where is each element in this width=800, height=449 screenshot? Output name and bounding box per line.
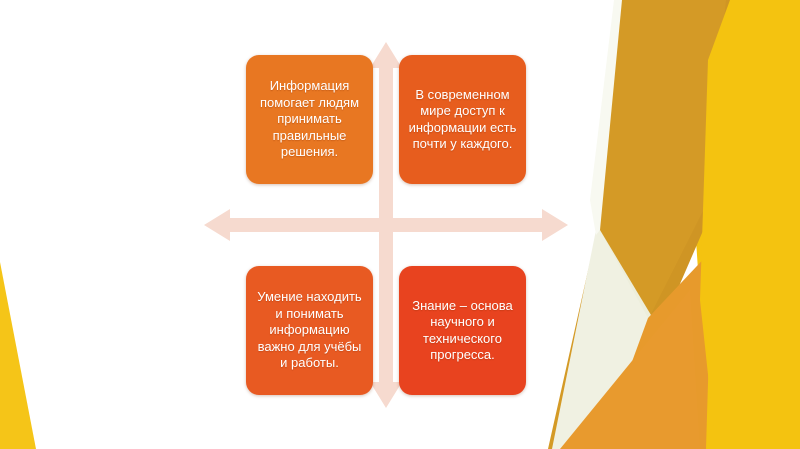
quadrant-box-top-right[interactable]: В современном мире доступ к информации е… (399, 55, 526, 184)
quadrant-box-top-left[interactable]: Информация помогает людям принимать прав… (246, 55, 373, 184)
right-orange-wedge (600, 250, 712, 449)
quadrant-cell-bottom-right: Знание – основа научного и технического … (386, 225, 576, 416)
quadrant-box-top-right-label: В современном мире доступ к информации е… (406, 87, 519, 153)
quadrant-box-bottom-right[interactable]: Знание – основа научного и технического … (399, 266, 526, 395)
quadrant-grid: Информация помогает людям принимать прав… (196, 34, 576, 416)
right-orange-wedge-2 (560, 290, 700, 449)
quadrant-box-top-left-label: Информация помогает людям принимать прав… (253, 78, 366, 161)
right-amber-band (560, 0, 730, 449)
quadrant-diagram: Информация помогает людям принимать прав… (196, 34, 576, 416)
right-pale-sliver (590, 0, 622, 235)
left-yellow-triangle (0, 262, 36, 449)
slide-canvas: Информация помогает людям принимать прав… (0, 0, 800, 449)
quadrant-box-bottom-right-label: Знание – основа научного и технического … (406, 298, 519, 364)
quadrant-box-bottom-left-label: Умение находить и понимать информацию ва… (253, 289, 366, 372)
right-yellow-shape-2 (700, 0, 800, 449)
quadrant-cell-top-left: Информация помогает людям принимать прав… (196, 34, 386, 225)
quadrant-cell-bottom-left: Умение находить и понимать информацию ва… (196, 225, 386, 416)
quadrant-box-bottom-left[interactable]: Умение находить и понимать информацию ва… (246, 266, 373, 395)
right-yellow-sliver (700, 0, 800, 449)
quadrant-cell-top-right: В современном мире доступ к информации е… (386, 34, 576, 225)
right-yellow-shape (660, 0, 800, 449)
